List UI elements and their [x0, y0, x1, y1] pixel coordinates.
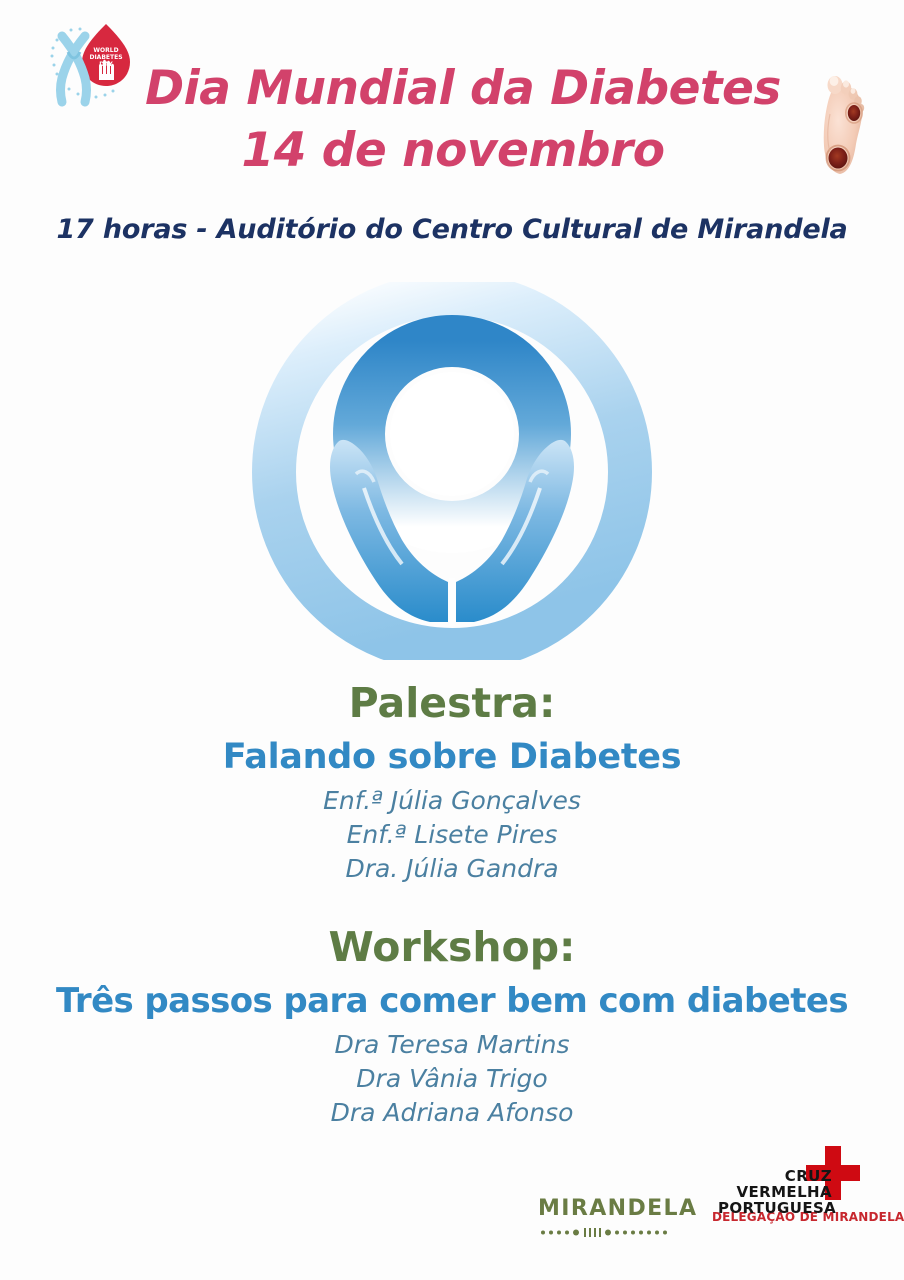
workshop-speaker: Dra Teresa Martins — [0, 1028, 904, 1062]
cruz-vermelha-portuguesa-logo: CRUZ VERMELHA PORTUGUESA DELEGAÇÃO DE MI… — [712, 1146, 888, 1224]
palestra-heading: Palestra: — [0, 678, 904, 728]
poster-canvas: WORLD DIABETES DAY Dia Mundial da Diabet… — [0, 0, 904, 1280]
venue-line: 17 horas - Auditório do Centro Cultural … — [0, 214, 904, 245]
mirandela-municipality-logo: MIRANDELA — [538, 1197, 670, 1233]
palestra-speaker: Enf.ª Lisete Pires — [0, 818, 904, 852]
mirandela-ornament-rule — [538, 1224, 670, 1233]
mirandela-wordmark: MIRANDELA — [538, 1197, 670, 1221]
workshop-speaker: Dra Adriana Afonso — [0, 1096, 904, 1130]
palestra-topic: Falando sobre Diabetes — [0, 734, 904, 780]
workshop-speaker: Dra Vânia Trigo — [0, 1062, 904, 1096]
workshop-topic: Três passos para comer bem com diabetes — [0, 978, 904, 1024]
hands-holding-circle-emblem — [252, 282, 652, 660]
cruz-vermelha-wordmark: CRUZ VERMELHA PORTUGUESA — [718, 1168, 832, 1216]
programme-section-palestra: Palestra: Falando sobre Diabetes Enf.ª J… — [0, 678, 904, 886]
wdd-drop-caption-line1: WORLD — [93, 47, 118, 54]
palestra-speaker: Enf.ª Júlia Gonçalves — [0, 784, 904, 818]
cvp-line-2: VERMELHA — [718, 1184, 832, 1200]
cvp-line-1: CRUZ — [718, 1168, 832, 1184]
workshop-heading: Workshop: — [0, 922, 904, 972]
programme-section-workshop: Workshop: Três passos para comer bem com… — [0, 922, 904, 1130]
diabetic-foot-illustration — [806, 68, 880, 190]
cvp-line-3: PORTUGUESA — [718, 1200, 832, 1216]
title-line-2: 14 de novembro — [0, 120, 904, 182]
palestra-speaker: Dra. Júlia Gandra — [0, 852, 904, 886]
title-line-1: Dia Mundial da Diabetes — [0, 58, 904, 120]
poster-title: Dia Mundial da Diabetes 14 de novembro — [0, 58, 904, 182]
